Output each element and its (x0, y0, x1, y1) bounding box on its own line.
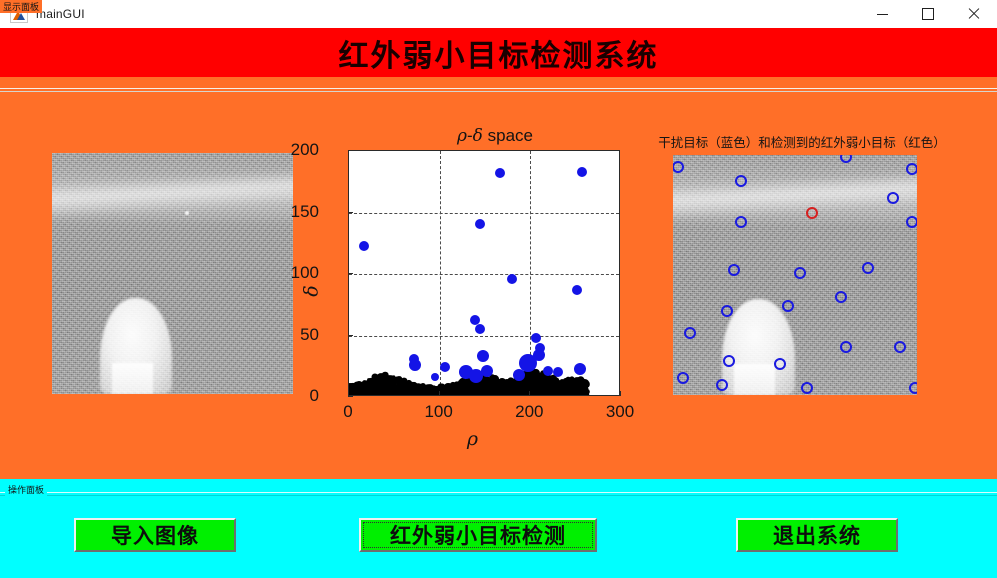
interference-target-marker (794, 267, 806, 279)
scatter-point-background (548, 376, 555, 383)
y-axis-tickmark (348, 335, 353, 336)
scatter-point-background (532, 395, 535, 396)
detect-target-button[interactable]: 红外弱小目标检测 (359, 518, 597, 552)
interference-target-marker (735, 175, 747, 187)
interference-target-marker (728, 264, 740, 276)
scatter-point-background (474, 395, 478, 396)
scatter-point-background (382, 393, 390, 396)
scatter-point-cluster-center (477, 350, 489, 362)
scatter-point-background (575, 393, 582, 396)
x-axis-tick-label: 200 (494, 402, 564, 422)
scatter-point-cluster-center (359, 241, 369, 251)
scatter-point-background (581, 395, 585, 396)
interference-target-marker (835, 291, 847, 303)
scatter-point-background (441, 391, 446, 396)
scatter-point-cluster-center (409, 359, 421, 371)
scatter-point-background (421, 387, 425, 391)
scatter-point-cluster-center (507, 274, 517, 284)
scatter-point-cluster-center (469, 369, 483, 383)
interference-target-marker (906, 163, 917, 175)
display-panel-label: 显示面板 (0, 0, 42, 13)
scatter-point-cluster-center (543, 366, 553, 376)
interference-target-marker (894, 341, 906, 353)
interference-target-marker (774, 358, 786, 370)
scatter-point-background (564, 391, 570, 396)
gridline-horizontal (349, 274, 619, 275)
window-title: mainGUI (36, 7, 85, 21)
y-axis-tick-label: 150 (239, 202, 319, 222)
y-axis-tickmark (348, 150, 353, 151)
scatter-point-background (355, 395, 358, 396)
scatter-point-cluster-center (495, 168, 505, 178)
scatter-point-background (507, 389, 515, 396)
scatter-point-background (461, 381, 465, 385)
scatter-point-background (467, 383, 471, 387)
exit-system-label: 退出系统 (741, 523, 893, 547)
x-axis-tickmark (348, 391, 349, 396)
scatter-point-background (581, 379, 589, 387)
scatter-point-background (389, 395, 393, 396)
scatter-point-background (536, 395, 539, 396)
scatter-point-background (406, 392, 413, 396)
interference-target-marker (862, 262, 874, 274)
gridline-horizontal (349, 336, 619, 337)
close-icon (968, 8, 980, 20)
scatter-point-background (538, 389, 542, 393)
y-axis-tick-label: 0 (239, 386, 319, 406)
interference-target-marker (716, 379, 728, 391)
x-axis-tick-label: 100 (404, 402, 474, 422)
plot-title: ρ-δ space (355, 126, 635, 146)
interference-target-marker (887, 192, 899, 204)
scatter-point-background (527, 393, 534, 396)
operation-panel-rule (0, 492, 997, 496)
app-title: 红外弱小目标检测系统 (339, 31, 659, 75)
scatter-point-cluster-center (531, 333, 541, 343)
detection-result-image[interactable] (673, 155, 917, 395)
minimize-button[interactable] (859, 0, 905, 28)
interference-target-marker (723, 355, 735, 367)
scatter-point-background (443, 395, 447, 396)
interference-target-marker (677, 372, 689, 384)
scatter-point-cluster-center (470, 315, 480, 325)
exit-system-button[interactable]: 退出系统 (736, 518, 898, 552)
scatter-point-cluster-center (577, 167, 587, 177)
app-banner: 红外弱小目标检测系统 (0, 28, 997, 77)
scatter-point-background (470, 395, 473, 396)
window-titlebar: mainGUI (0, 0, 997, 29)
scatter-point-background (444, 395, 447, 396)
operation-panel-label: 操作面板 (5, 483, 47, 496)
scatter-point-background (494, 388, 502, 396)
scatter-point-background (554, 394, 560, 396)
scatter-point-background (394, 376, 401, 383)
scatter-point-cluster-center (572, 285, 582, 295)
window-controls (859, 0, 997, 28)
x-axis-label: ρ (300, 428, 645, 450)
scatter-point-background (522, 395, 525, 396)
plot-axes[interactable] (348, 150, 620, 396)
gridline-horizontal (349, 213, 619, 214)
scatter-point-cluster-center (475, 219, 485, 229)
scatter-point-cluster-center (440, 362, 450, 372)
y-axis-tick-label: 50 (239, 325, 319, 345)
scatter-point-background (434, 392, 438, 396)
scatter-point-cluster-center (475, 324, 485, 334)
y-axis-label: δ (301, 285, 323, 296)
interference-target-marker (684, 327, 696, 339)
y-axis-tick-label: 200 (239, 140, 319, 160)
gridline-vertical (440, 151, 441, 395)
scatter-point-background (473, 393, 480, 396)
x-axis-tickmark (529, 391, 530, 396)
x-axis-tickmark (620, 391, 621, 396)
scatter-point-cluster-center (553, 367, 563, 377)
y-axis-tickmark (348, 273, 353, 274)
detected-target-marker (806, 207, 818, 219)
close-button[interactable] (951, 0, 997, 28)
y-axis-tick-label: 100 (239, 263, 319, 283)
interference-target-marker (782, 300, 794, 312)
scatter-point-background (444, 395, 448, 396)
scatter-point-background (504, 395, 508, 396)
interference-target-marker (909, 382, 917, 394)
scatter-point-background (550, 395, 553, 396)
interference-target-marker (801, 382, 813, 394)
x-axis-tickmark (439, 391, 440, 396)
minimize-icon (877, 14, 888, 15)
scatter-point-cluster-center (574, 363, 586, 375)
x-axis-tick-label: 0 (313, 402, 383, 422)
y-axis-tickmark (348, 396, 353, 397)
display-panel-rule (0, 88, 997, 92)
interference-target-marker (840, 341, 852, 353)
interference-target-marker (721, 305, 733, 317)
import-image-button[interactable]: 导入图像 (74, 518, 236, 552)
scatter-point-background (355, 393, 361, 396)
scatter-point-background (423, 395, 427, 396)
rho-delta-plot: ρ-δ space δ ρ 0501001502000100200300 (300, 110, 645, 440)
scatter-point-background (519, 384, 524, 389)
detection-image-title: 干扰目标（蓝色）和检测到的红外弱小目标（红色） (637, 132, 967, 151)
scatter-point-background (568, 379, 573, 384)
scatter-point-cluster-center (513, 369, 525, 381)
interference-target-marker (906, 216, 917, 228)
import-image-label: 导入图像 (79, 523, 231, 547)
scatter-point-background (571, 388, 576, 393)
scatter-point-background (452, 390, 460, 396)
scatter-point-cluster-center (431, 373, 439, 381)
interference-target-marker (735, 216, 747, 228)
detect-target-label: 红外弱小目标检测 (363, 522, 593, 548)
maximize-button[interactable] (905, 0, 951, 28)
x-axis-tick-label: 300 (585, 402, 655, 422)
y-axis-tickmark (348, 212, 353, 213)
maingui-window: mainGUI 红外弱小目标检测系统 显示面板 ρ-δ space δ ρ 05… (0, 0, 997, 578)
maximize-icon (922, 8, 934, 20)
scatter-point-background (445, 395, 448, 396)
